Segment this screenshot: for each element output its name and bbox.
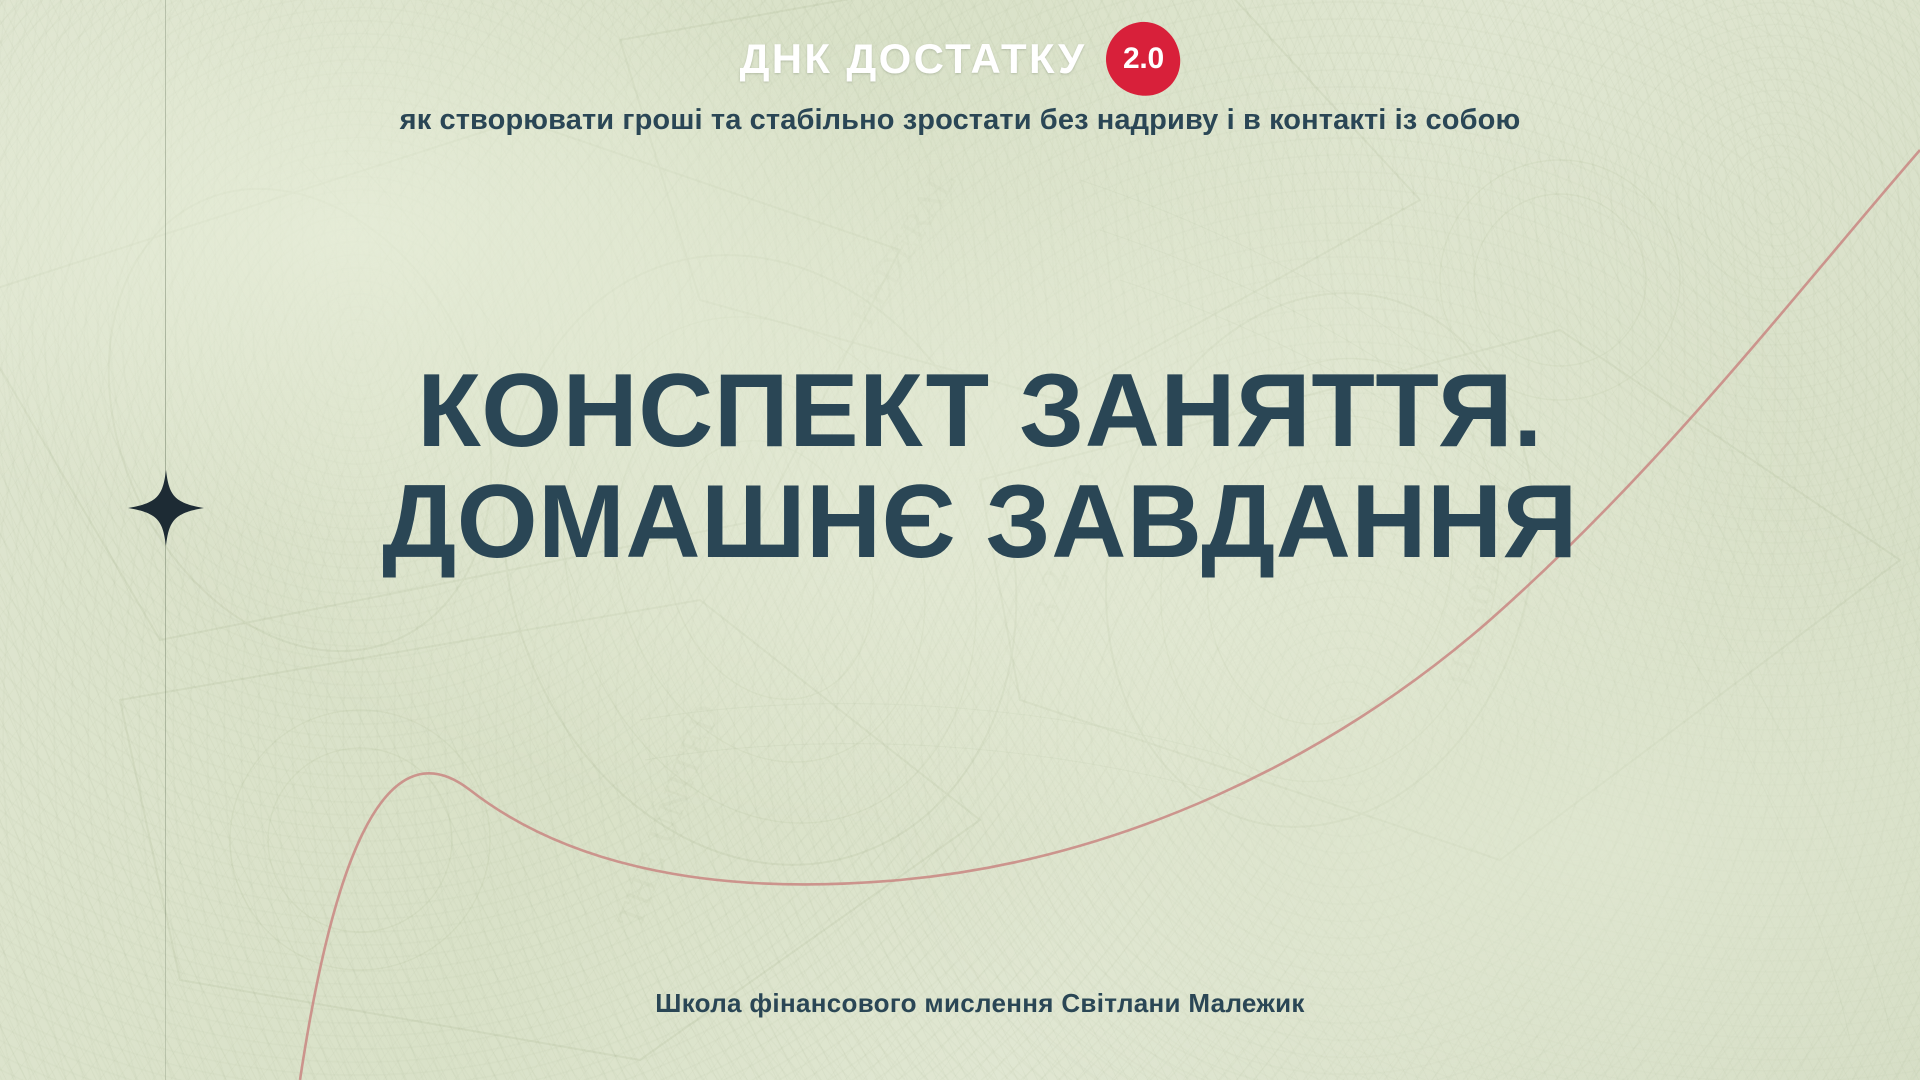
footer-credit: Школа фінансового мислення Світлани Мале… [40, 988, 1920, 1019]
brand-row: ДНК ДОСТАТКУ 2.0 [0, 22, 1920, 96]
slide-canvas: 3 2 4 6 H HL 3052051 THE UNITED FEDERAL … [0, 0, 1920, 1080]
slide-footer: Школа фінансового мислення Світлани Мале… [0, 988, 1920, 1019]
page-title-line-1: КОНСПЕКТ ЗАНЯТТЯ. [40, 356, 1920, 467]
brand-subtitle: як створювати гроші та стабільно зростат… [0, 104, 1920, 137]
page-title-line-2: ДОМАШНЄ ЗАВДАННЯ [40, 467, 1920, 578]
slide-title-block: КОНСПЕКТ ЗАНЯТТЯ. ДОМАШНЄ ЗАВДАННЯ [0, 356, 1920, 579]
badge-label: 2.0 [1123, 44, 1164, 74]
brand-title: ДНК ДОСТАТКУ [740, 35, 1087, 83]
slide-header: ДНК ДОСТАТКУ 2.0 як створювати гроші та … [0, 22, 1920, 137]
version-badge: 2.0 [1106, 22, 1180, 96]
